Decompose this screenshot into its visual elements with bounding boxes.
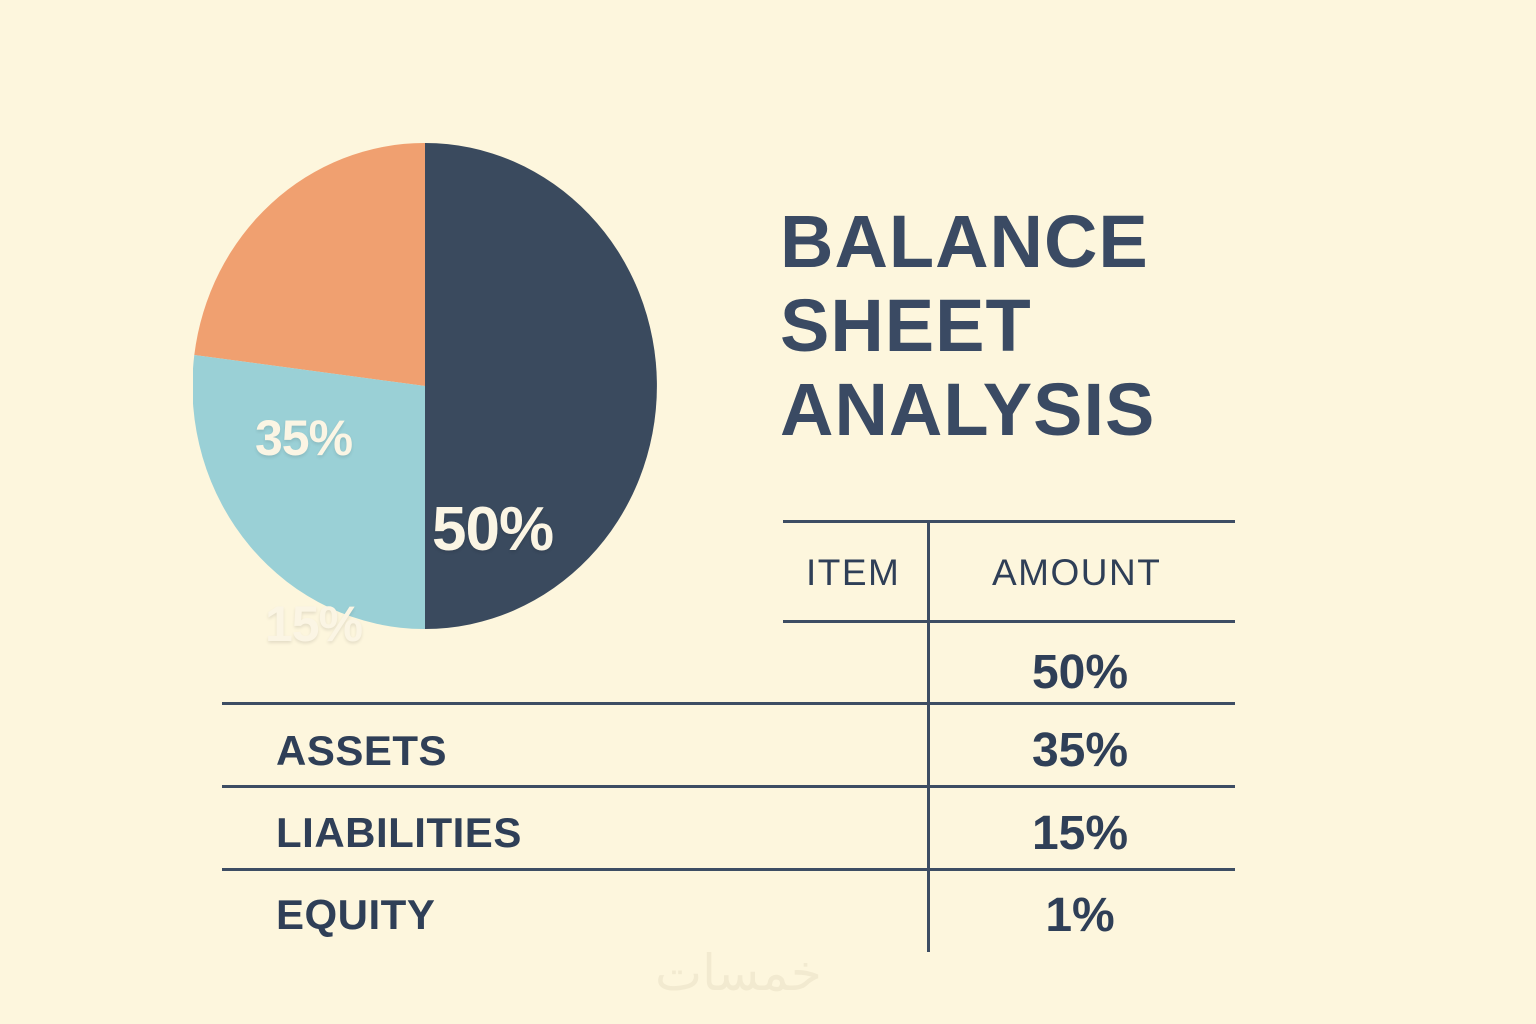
table-rule-top — [783, 520, 1235, 523]
title-line-3: ANALYSIS — [780, 368, 1240, 452]
pie-chart: 50% 35% 15% — [193, 143, 657, 629]
table-header-item: ITEM — [806, 552, 900, 594]
table-cell-item-liabilities: LIABILITIES — [276, 809, 522, 857]
table-cell-amount-0: 50% — [930, 645, 1230, 700]
pie-slice-15-percent[interactable] — [193, 355, 425, 629]
table-cell-amount-assets: 35% — [930, 723, 1230, 778]
infographic-canvas: 50% 35% 15% BALANCE SHEET ANALYSIS ITEM … — [0, 0, 1536, 1024]
table-rule-row-2 — [222, 785, 1235, 788]
pie-chart-svg — [193, 143, 657, 629]
table-rule-header — [783, 620, 1235, 623]
pie-slice-35-percent[interactable] — [194, 143, 425, 386]
pie-slice-label-35: 35% — [255, 409, 352, 467]
table-cell-amount-liabilities: 15% — [930, 806, 1230, 861]
table-rule-row-1 — [222, 702, 1235, 705]
title-line-2: SHEET — [780, 284, 1240, 368]
table-cell-amount-equity: 1% — [930, 888, 1230, 943]
title-line-1: BALANCE — [780, 200, 1240, 284]
pie-slice-label-15: 15% — [265, 595, 362, 653]
pie-slice-label-50: 50% — [432, 494, 553, 565]
page-title: BALANCE SHEET ANALYSIS — [780, 200, 1240, 452]
watermark: خمسات — [655, 944, 822, 1002]
table-cell-item-assets: ASSETS — [276, 727, 447, 775]
table-rule-row-3 — [222, 868, 1235, 871]
table-header-amount: AMOUNT — [992, 552, 1161, 594]
table-cell-item-equity: EQUITY — [276, 891, 435, 939]
